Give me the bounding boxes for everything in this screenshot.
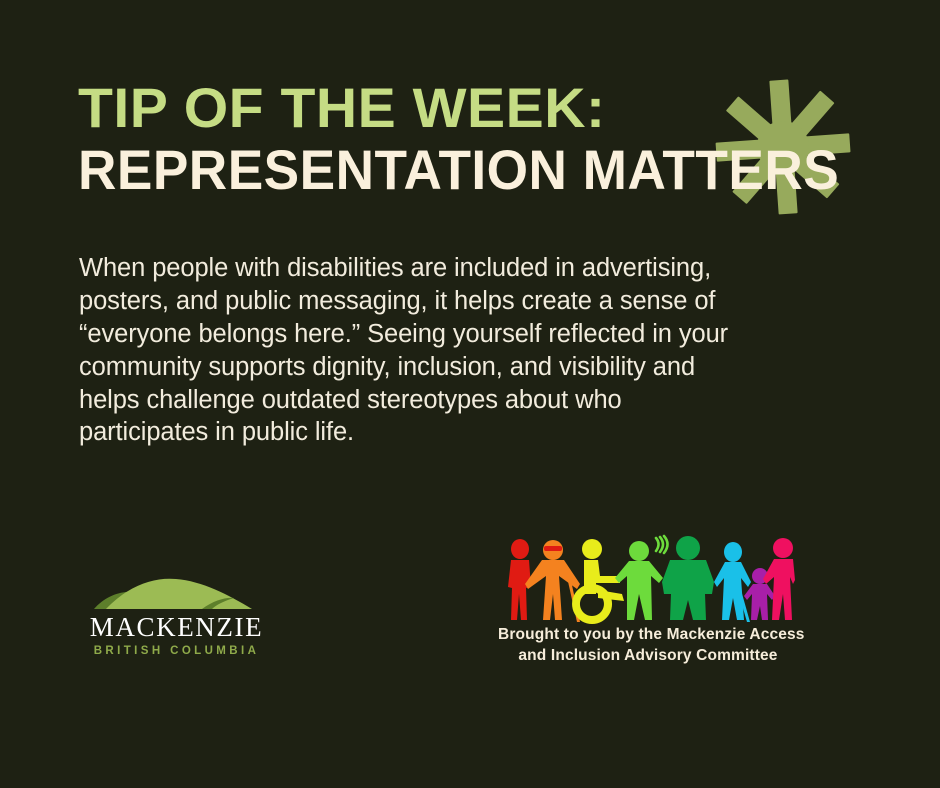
body-copy: When people with disabilities are includ…: [79, 252, 739, 449]
diverse-people-graphic: [498, 532, 795, 624]
figure-green-icon: [662, 536, 714, 620]
logo-subtitle: BRITISH COLUMBIA: [84, 646, 269, 658]
figure-pink-icon: [763, 538, 795, 620]
mackenzie-logo: MACKENZIE BRITISH COLUMBIA: [84, 575, 269, 658]
committee-caption: Brought to you by the Mackenzie Access a…: [498, 624, 798, 667]
mountain-hills-icon: [84, 575, 269, 613]
headline-line-2: REPRESENTATION MATTERS: [78, 144, 648, 196]
headline-line-1: TIP OF THE WEEK:: [78, 82, 690, 134]
body-paragraph: When people with disabilities are includ…: [79, 252, 739, 449]
figure-hearing-icon: [615, 536, 668, 620]
poster-canvas: TIP OF THE WEEK: REPRESENTATION MATTERS …: [0, 0, 940, 788]
caption-line-1: Brought to you by the Mackenzie Access: [498, 624, 798, 645]
figure-orange-icon: [525, 540, 580, 622]
figure-red-icon: [508, 539, 531, 620]
logo-wordmark: MACKENZIE: [84, 614, 269, 641]
caption-line-2: and Inclusion Advisory Committee: [498, 645, 798, 666]
figure-wheelchair-icon: [572, 539, 624, 624]
headline: TIP OF THE WEEK: REPRESENTATION MATTERS: [78, 82, 678, 195]
figure-cyan-icon: [714, 542, 751, 622]
